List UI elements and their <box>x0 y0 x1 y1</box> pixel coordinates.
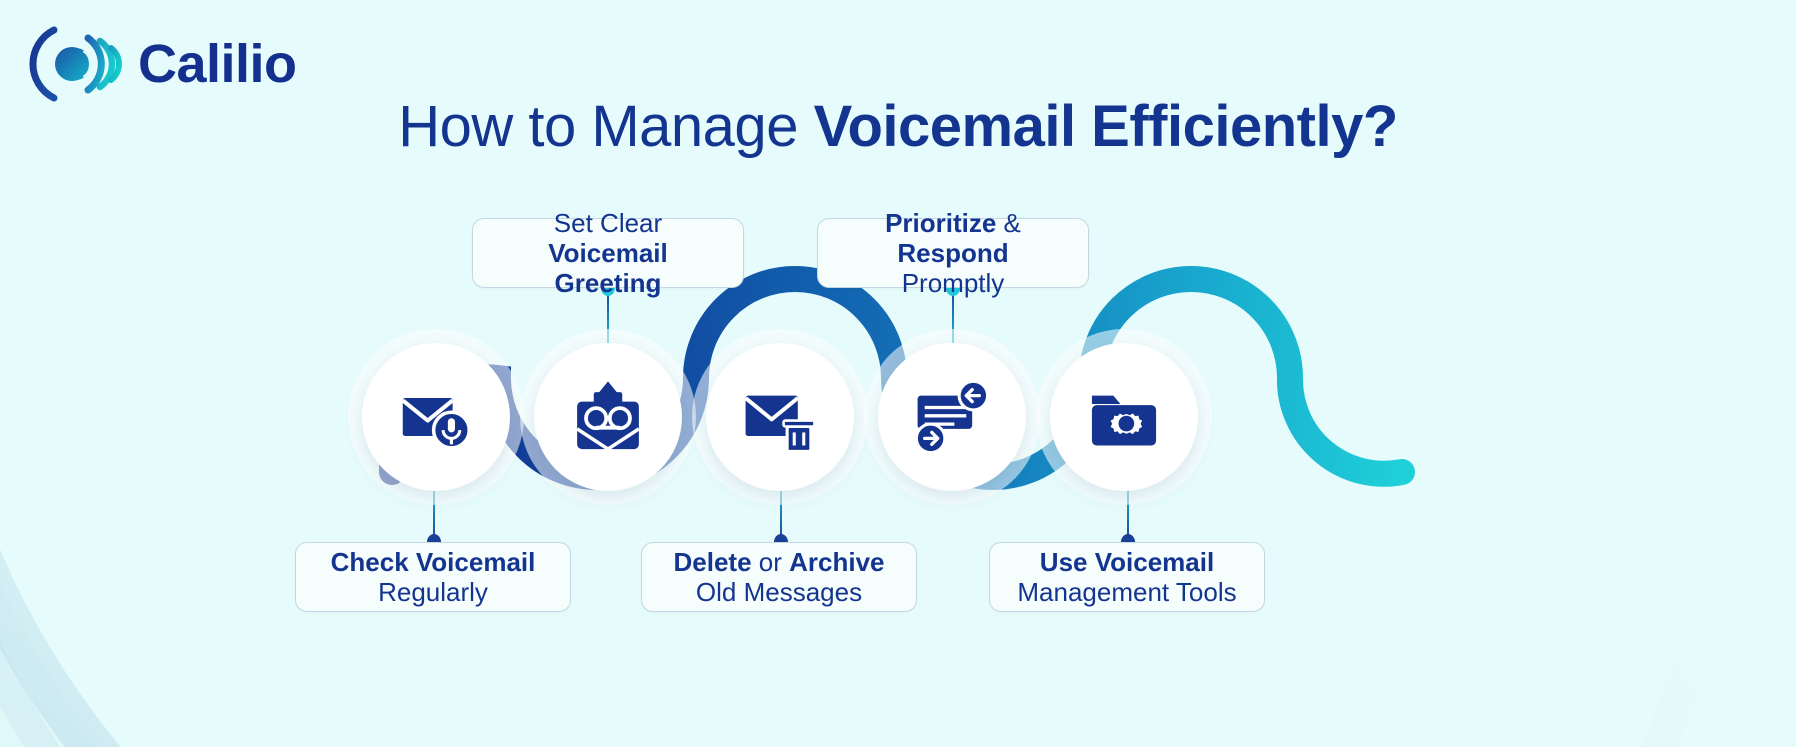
label-set-greeting-line1-bold: Voicemail <box>548 238 667 268</box>
brand-wordmark: Calilio <box>138 37 297 91</box>
brand-logo: Calilio <box>28 22 297 106</box>
label-check-voicemail-line1: Check Voicemail <box>331 547 536 577</box>
label-prioritize-bold-a: Prioritize <box>885 208 996 238</box>
step-label-delete-archive[interactable]: Delete or Archive Old Messages <box>641 542 917 612</box>
message-reply-arrows-icon <box>914 379 990 455</box>
step-label-set-greeting[interactable]: Set Clear Voicemail Greeting <box>472 218 744 288</box>
label-prioritize-bold-b: Respond <box>897 238 1008 268</box>
label-delete-regular: or <box>752 547 790 577</box>
label-delete-bold-a: Delete <box>673 547 751 577</box>
calilio-signal-logo-icon <box>28 22 124 106</box>
step-icon-circle-set-greeting[interactable] <box>534 343 682 491</box>
label-set-greeting-line2-bold: Greeting <box>555 268 662 298</box>
label-management-line2: Management Tools <box>1017 577 1236 607</box>
step-label-prioritize-respond[interactable]: Prioritize & Respond Promptly <box>817 218 1089 288</box>
label-check-voicemail-line2: Regularly <box>378 577 488 607</box>
step-label-check-voicemail[interactable]: Check Voicemail Regularly <box>295 542 571 612</box>
label-set-greeting-line1-regular: Set Clear <box>554 208 662 238</box>
envelope-voicemail-tape-icon <box>570 379 646 455</box>
envelope-trash-icon <box>742 379 818 455</box>
title-light-part: How to Manage <box>398 94 813 159</box>
folder-gear-icon <box>1086 379 1162 455</box>
label-management-line1: Use Voicemail <box>1040 547 1214 577</box>
page-title: How to Manage Voicemail Efficiently? <box>0 95 1796 160</box>
label-delete-bold-b: Archive <box>789 547 884 577</box>
label-prioritize-line2: Promptly <box>902 268 1005 298</box>
label-delete-line2: Old Messages <box>696 577 862 607</box>
step-icon-circle-prioritize-respond[interactable] <box>878 343 1026 491</box>
step-icon-circle-management-tools[interactable] <box>1050 343 1198 491</box>
step-label-management-tools[interactable]: Use Voicemail Management Tools <box>989 542 1265 612</box>
envelope-microphone-icon <box>398 379 474 455</box>
title-bold-part: Voicemail Efficiently? <box>814 94 1398 159</box>
step-icon-circle-delete-archive[interactable] <box>706 343 854 491</box>
label-prioritize-regular: & <box>996 208 1021 238</box>
step-icon-circle-check-voicemail[interactable] <box>362 343 510 491</box>
